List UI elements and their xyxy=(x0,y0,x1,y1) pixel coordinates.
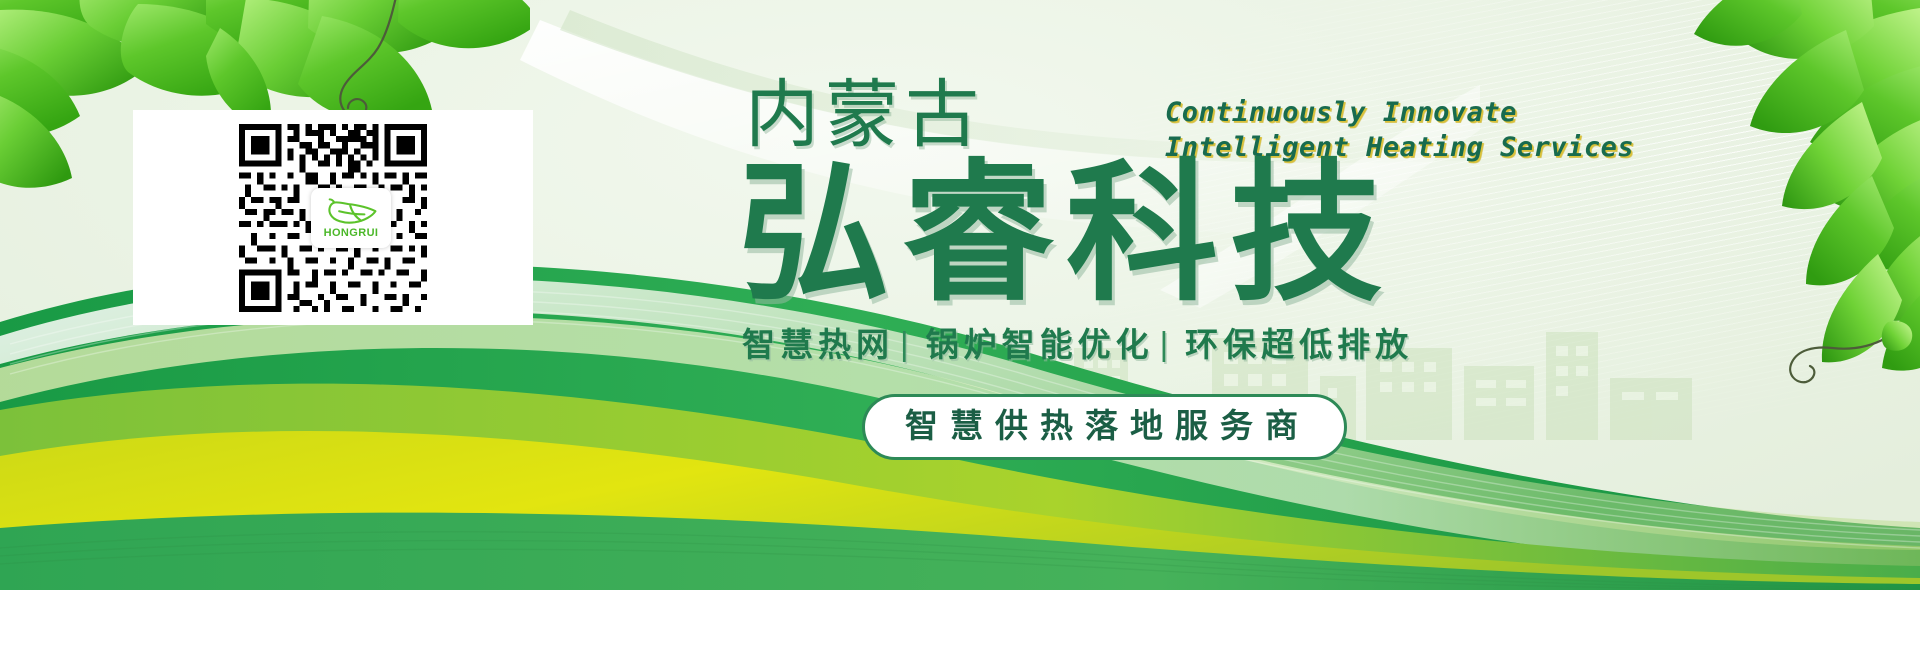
service-separator-2: | xyxy=(1160,327,1174,360)
banner-stage: HONGRUI 内蒙古 Continuously Innovate Intell… xyxy=(0,0,1920,659)
qr-logo-text: HONGRUI xyxy=(324,228,379,239)
province-title: 内蒙古 xyxy=(745,78,985,152)
english-slogan-line1: Continuously Innovate xyxy=(1165,97,1517,128)
company-name: 弘睿科技 xyxy=(738,158,1394,310)
service-list: 智慧热网 | 锅炉智能优化 | 环保超低排放 xyxy=(742,328,1413,361)
service-item-3: 环保超低排放 xyxy=(1185,328,1413,361)
service-item-2: 锅炉智能优化 xyxy=(926,328,1154,361)
service-item-1: 智慧热网 xyxy=(742,328,894,361)
service-separator-1: | xyxy=(900,327,914,360)
leaves-icon xyxy=(1610,0,1920,400)
leaf-bird-icon xyxy=(323,197,379,227)
company-banner: HONGRUI 内蒙古 Continuously Innovate Intell… xyxy=(0,0,1920,590)
qr-embedded-logo: HONGRUI xyxy=(311,188,391,248)
status-badge-label: 智慧供热落地服务商 xyxy=(899,411,1310,444)
qr-code-panel[interactable]: HONGRUI xyxy=(133,110,533,325)
status-badge: 智慧供热落地服务商 xyxy=(862,394,1347,460)
